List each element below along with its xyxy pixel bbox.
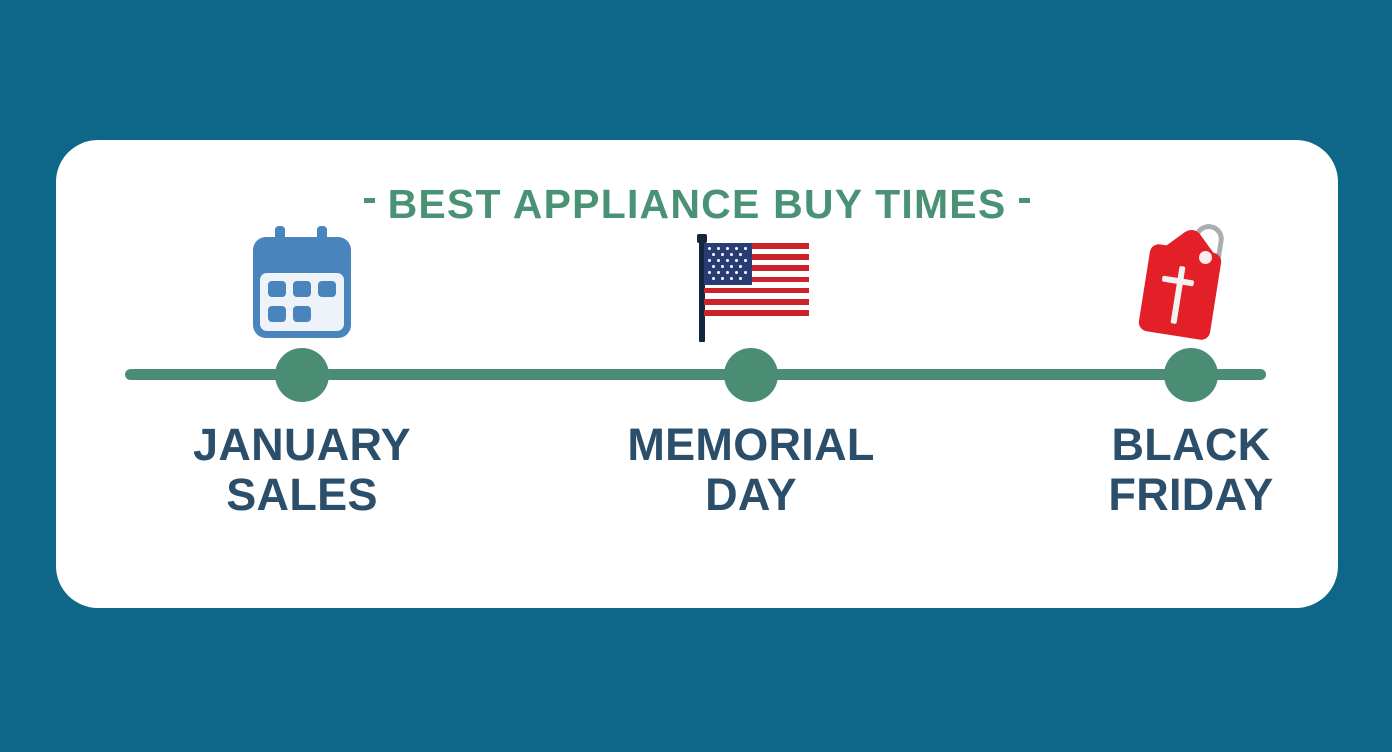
label-line-2: SALES: [152, 470, 452, 520]
timeline-dot-memorial-day[interactable]: [724, 348, 778, 402]
tag-hole: [1199, 251, 1212, 264]
calendar-cell: [293, 306, 311, 322]
timeline-label-memorial-day: MEMORIAL DAY: [601, 420, 901, 521]
label-line-2: DAY: [601, 470, 901, 520]
calendar-icon: [253, 226, 351, 338]
calendar-icon-wrap: [152, 140, 452, 348]
calendar-cell: [318, 281, 336, 297]
price-tag-icon: [1136, 224, 1246, 342]
flag-canton: [704, 243, 752, 285]
infographic-canvas: BEST APPLIANCE BUY TIMES: [0, 0, 1392, 752]
usa-flag-icon-wrap: [601, 140, 901, 348]
flag-stripe: [704, 299, 809, 305]
calendar-cell: [268, 306, 286, 322]
flag-stripe: [704, 288, 809, 294]
label-line-2: FRIDAY: [1041, 470, 1341, 520]
calendar-page: [260, 273, 344, 331]
timeline-milestone-memorial-day[interactable]: MEMORIAL DAY: [601, 140, 901, 608]
calendar-cell: [268, 281, 286, 297]
infographic-card: BEST APPLIANCE BUY TIMES: [56, 140, 1338, 608]
timeline-milestone-black-friday[interactable]: BLACK FRIDAY: [1041, 140, 1341, 608]
label-line-1: BLACK: [1041, 420, 1341, 470]
timeline-dot-black-friday[interactable]: [1164, 348, 1218, 402]
label-line-1: MEMORIAL: [601, 420, 901, 470]
timeline-label-black-friday: BLACK FRIDAY: [1041, 420, 1341, 521]
usa-flag-icon: [693, 234, 809, 344]
timeline-label-january-sales: JANUARY SALES: [152, 420, 452, 521]
flag-field: [704, 243, 809, 321]
title-dash-right-icon: [1019, 198, 1030, 203]
label-line-1: JANUARY: [152, 420, 452, 470]
timeline-dot-january-sales[interactable]: [275, 348, 329, 402]
flag-stripe: [704, 310, 809, 316]
calendar-body: [253, 237, 351, 338]
timeline-milestone-january-sales[interactable]: JANUARY SALES: [152, 140, 452, 608]
calendar-cell: [293, 281, 311, 297]
price-tag-icon-wrap: [1041, 140, 1341, 348]
